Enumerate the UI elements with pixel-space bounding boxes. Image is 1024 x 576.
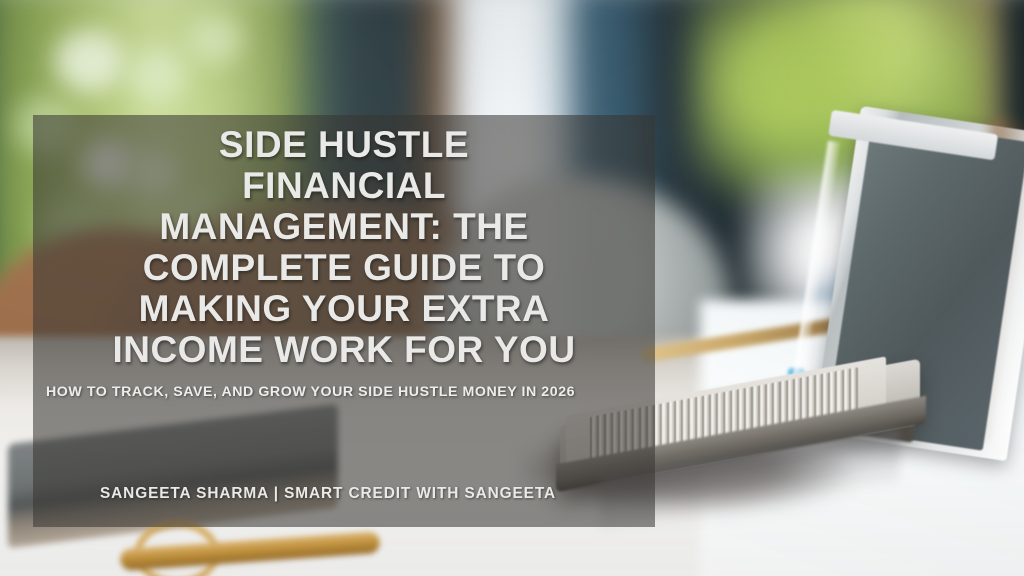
banner-image: SIDE HUSTLE FINANCIAL MANAGEMENT: THE CO… bbox=[0, 0, 1024, 576]
title-line-3: MANAGEMENT: THE bbox=[33, 206, 655, 247]
title-line-4: COMPLETE GUIDE TO bbox=[33, 247, 655, 288]
title-line-2: FINANCIAL bbox=[33, 165, 655, 206]
title-line-5: MAKING YOUR EXTRA bbox=[33, 288, 655, 329]
title-line-6: INCOME WORK FOR YOU bbox=[33, 329, 655, 370]
page-title: SIDE HUSTLE FINANCIAL MANAGEMENT: THE CO… bbox=[33, 124, 655, 370]
page-subtitle: HOW TO TRACK, SAVE, AND GROW YOUR SIDE H… bbox=[46, 384, 646, 400]
title-line-1: SIDE HUSTLE bbox=[33, 124, 655, 165]
byline: SANGEETA SHARMA | SMART CREDIT WITH SANG… bbox=[100, 485, 640, 503]
